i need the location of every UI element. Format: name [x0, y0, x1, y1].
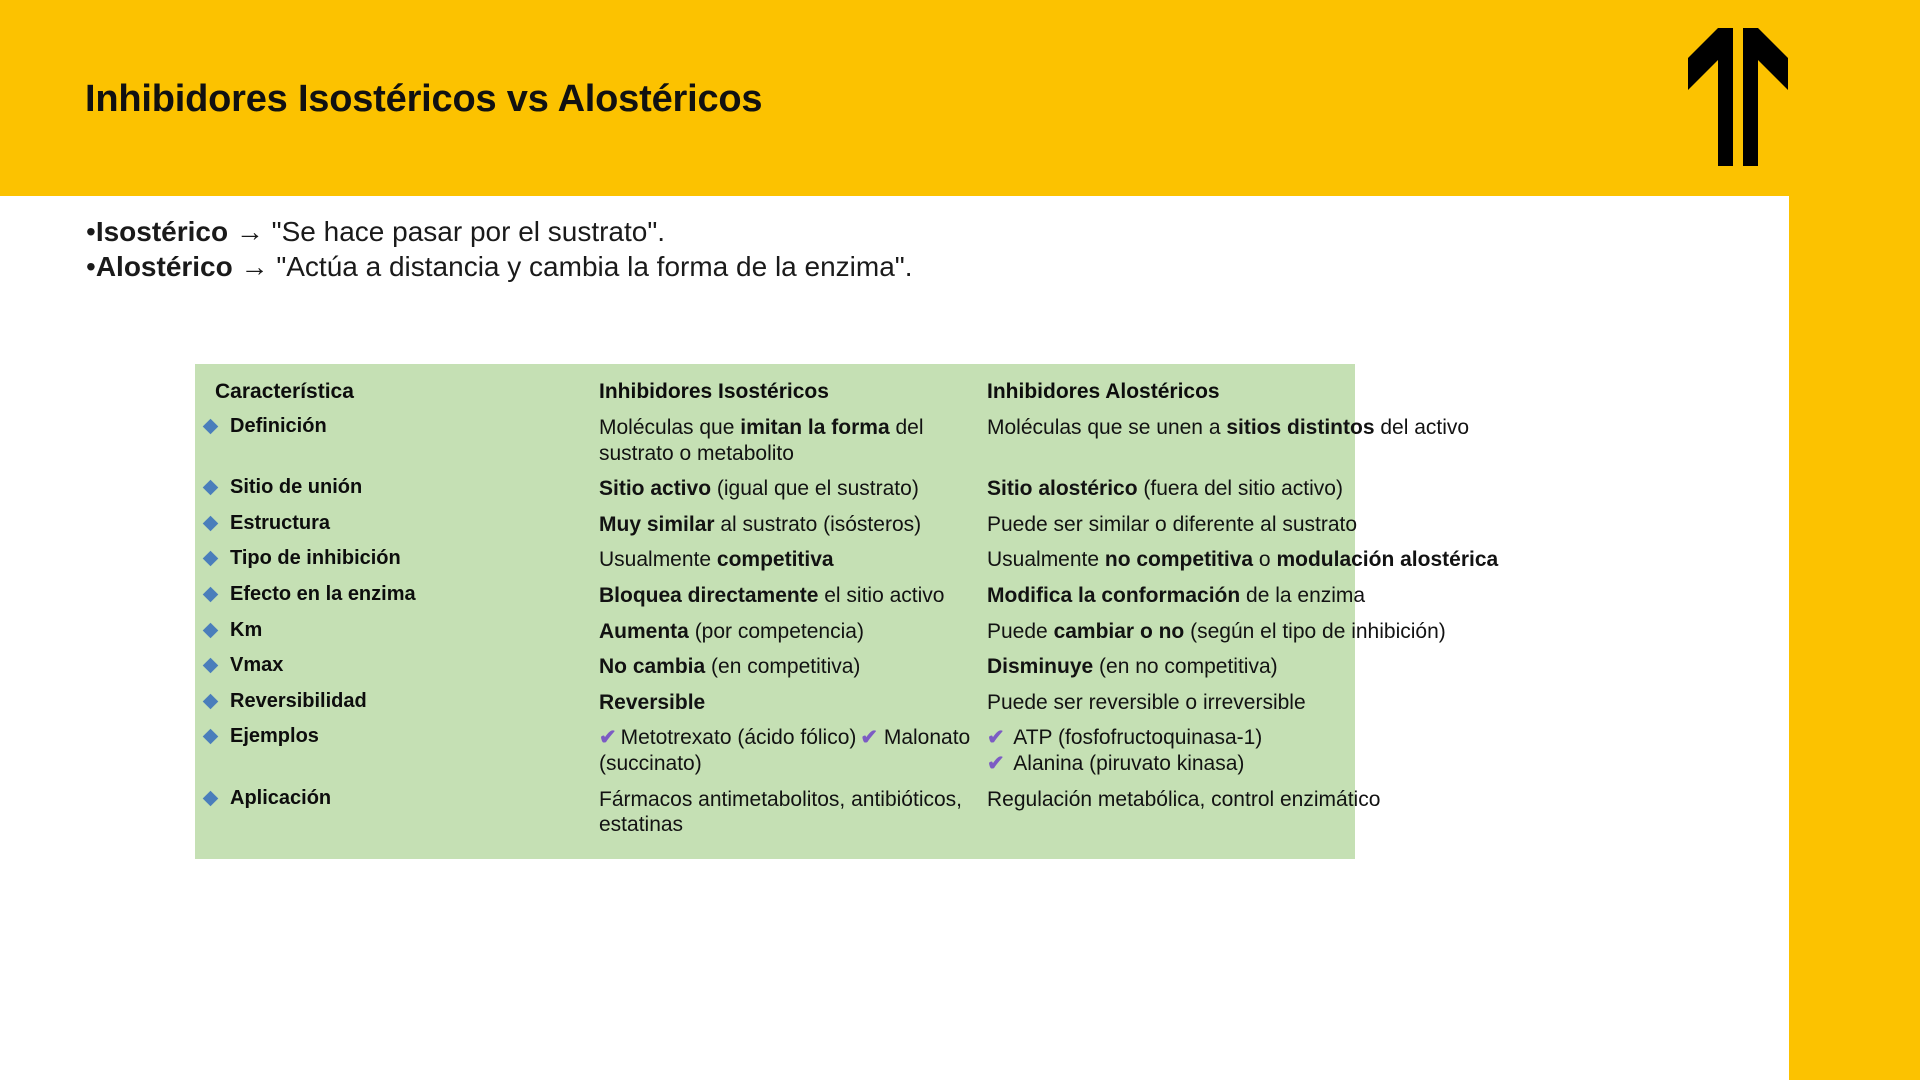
cell-text-part: (según el tipo de inhibición) [1184, 620, 1446, 643]
table-body: DefiniciónMoléculas que imitan la forma … [195, 410, 1355, 843]
table-header-row: Característica Inhibidores Isostéricos I… [195, 378, 1355, 410]
check-icon: ✔ [987, 725, 1005, 751]
diamond-bullet-icon [203, 551, 219, 567]
allosteric-cell: Puede cambiar o no (según el tipo de inh… [987, 614, 1355, 650]
example-item: Metotrexato (ácido fólico) [621, 726, 857, 749]
feature-cell: Aplicación [195, 782, 595, 815]
cell-text-emphasis: Sitio alostérico [987, 477, 1138, 500]
allosteric-cell: Usualmente no competitiva o modulación a… [987, 542, 1355, 578]
diamond-bullet-icon [203, 622, 219, 638]
cell-text-emphasis: Reversible [599, 691, 705, 714]
allosteric-cell: Sitio alostérico (fuera del sitio activo… [987, 471, 1355, 507]
cell-text-part: o [1253, 548, 1276, 571]
intro-arrow: → [241, 251, 269, 282]
cell-text: Usualmente no competitiva o modulación a… [987, 547, 1355, 573]
bullet-dot: • [86, 251, 96, 282]
cell-text: No cambia (en competitiva) [599, 654, 973, 680]
isosteric-cell: Moléculas que imitan la forma del sustra… [595, 410, 987, 471]
example-line: ✔ ATP (fosfofructoquinasa-1) [987, 725, 1355, 751]
cell-text-part: Puede ser reversible o irreversible [987, 691, 1306, 714]
cell-text-emphasis: imitan la forma [740, 416, 889, 439]
feature-cell: Efecto en la enzima [195, 578, 595, 611]
cell-text: Disminuye (en no competitiva) [987, 654, 1355, 680]
table-row: KmAumenta (por competencia)Puede cambiar… [195, 614, 1355, 650]
double-arrow-logo [1688, 28, 1788, 166]
cell-text-part: Usualmente [987, 548, 1105, 571]
allosteric-cell: Puede ser reversible o irreversible [987, 685, 1355, 721]
comparison-table: Característica Inhibidores Isostéricos I… [195, 364, 1355, 859]
cell-text: Modifica la conformación de la enzima [987, 583, 1355, 609]
feature-cell: Vmax [195, 649, 595, 682]
cell-text-part: al sustrato (isósteros) [715, 513, 922, 536]
feature-label: Reversibilidad [230, 690, 367, 713]
diamond-bullet-icon [203, 658, 219, 674]
header-isosteric: Inhibidores Isostéricos [595, 378, 987, 410]
intro-line-allosteric: •Alostérico → "Actúa a distancia y cambi… [86, 249, 1386, 284]
cell-text: Bloquea directamente el sitio activo [599, 583, 973, 609]
feature-label: Km [230, 619, 262, 642]
cell-text-part: de la enzima [1240, 584, 1365, 607]
cell-text: Muy similar al sustrato (isósteros) [599, 512, 973, 538]
isosteric-cell: Muy similar al sustrato (isósteros) [595, 507, 987, 543]
cell-text: ✔ ATP (fosfofructoquinasa-1)✔ Alanina (p… [987, 725, 1355, 776]
feature-cell: Estructura [195, 507, 595, 540]
cell-text-part: (por competencia) [689, 620, 864, 643]
cell-text-part: Moléculas que [599, 416, 740, 439]
isosteric-cell: Usualmente competitiva [595, 542, 987, 578]
diamond-bullet-icon [203, 694, 219, 710]
diamond-bullet-icon [203, 516, 219, 532]
diamond-bullet-icon [203, 419, 219, 435]
cell-text-emphasis: Bloquea directamente [599, 584, 818, 607]
isosteric-cell: Sitio activo (igual que el sustrato) [595, 471, 987, 507]
intro-text-isosteric: "Se hace pasar por el sustrato". [272, 216, 665, 247]
diamond-bullet-icon [203, 587, 219, 603]
cell-text: ✔Metotrexato (ácido fólico)✔ Malonato (s… [599, 725, 973, 776]
cell-text-emphasis: Muy similar [599, 513, 715, 536]
table-row: VmaxNo cambia (en competitiva)Disminuye … [195, 649, 1355, 685]
feature-label: Aplicación [230, 787, 331, 810]
cell-text: Sitio activo (igual que el sustrato) [599, 476, 973, 502]
cell-text-part: (en no competitiva) [1093, 655, 1277, 678]
cell-text-emphasis: Disminuye [987, 655, 1093, 678]
feature-cell: Sitio de unión [195, 471, 595, 504]
isosteric-cell: ✔Metotrexato (ácido fólico)✔ Malonato (s… [595, 720, 987, 781]
cell-text-part: Puede [987, 620, 1054, 643]
header-allosteric: Inhibidores Alostéricos [987, 378, 1355, 410]
cell-text-emphasis: Sitio activo [599, 477, 711, 500]
cell-text-emphasis: sitios distintos [1226, 416, 1374, 439]
example-line: ✔ Alanina (piruvato kinasa) [987, 751, 1355, 777]
cell-text-part: (igual que el sustrato) [711, 477, 919, 500]
allosteric-cell: Regulación metabólica, control enzimátic… [987, 782, 1355, 818]
cell-text: Aumenta (por competencia) [599, 619, 973, 645]
isosteric-cell: No cambia (en competitiva) [595, 649, 987, 685]
example-item: ATP (fosfofructoquinasa-1) [1009, 726, 1263, 749]
table-row: DefiniciónMoléculas que imitan la forma … [195, 410, 1355, 471]
cell-text-part: Moléculas que se unen a [987, 416, 1226, 439]
feature-label: Sitio de unión [230, 476, 362, 499]
header-feature: Característica [195, 378, 595, 410]
feature-cell: Tipo de inhibición [195, 542, 595, 575]
allosteric-cell: Disminuye (en no competitiva) [987, 649, 1355, 685]
table-row-application: AplicaciónFármacos antimetabolitos, anti… [195, 782, 1355, 843]
cell-text: Moléculas que se unen a sitios distintos… [987, 415, 1355, 441]
intro-term-allosteric: Alostérico [96, 251, 233, 282]
check-icon: ✔ [599, 725, 617, 751]
intro-bullets: •Isostérico → "Se hace pasar por el sust… [86, 214, 1386, 285]
cell-text: Puede cambiar o no (según el tipo de inh… [987, 619, 1355, 645]
right-yellow-strip [1789, 0, 1920, 1080]
feature-cell: Km [195, 614, 595, 647]
isosteric-cell: Aumenta (por competencia) [595, 614, 987, 650]
intro-text-allosteric: "Actúa a distancia y cambia la forma de … [276, 251, 912, 282]
cell-text: Sitio alostérico (fuera del sitio activo… [987, 476, 1355, 502]
cell-text-part: Puede ser similar o diferente al sustrat… [987, 513, 1357, 536]
cell-text-part: (fuera del sitio activo) [1138, 477, 1343, 500]
cell-text: Puede ser similar o diferente al sustrat… [987, 512, 1355, 538]
isosteric-cell: Bloquea directamente el sitio activo [595, 578, 987, 614]
cell-text-emphasis: cambiar o no [1054, 620, 1185, 643]
cell-text-part: (en competitiva) [705, 655, 860, 678]
allosteric-cell: ✔ ATP (fosfofructoquinasa-1)✔ Alanina (p… [987, 720, 1355, 781]
cell-text: Puede ser reversible o irreversible [987, 690, 1355, 716]
slide-root: Inhibidores Isostéricos vs Alostéricos •… [0, 0, 1920, 1080]
feature-label: Tipo de inhibición [230, 547, 401, 570]
cell-text-emphasis: no competitiva [1105, 548, 1253, 571]
cell-text-emphasis: No cambia [599, 655, 705, 678]
feature-label: Ejemplos [230, 725, 319, 748]
allosteric-cell: Modifica la conformación de la enzima [987, 578, 1355, 614]
table-row: ReversibilidadReversiblePuede ser revers… [195, 685, 1355, 721]
table-row-examples: Ejemplos✔Metotrexato (ácido fólico)✔ Mal… [195, 720, 1355, 781]
feature-label: Vmax [230, 654, 283, 677]
diamond-bullet-icon [203, 790, 219, 806]
cell-text: Reversible [599, 690, 973, 716]
cell-text-emphasis: Aumenta [599, 620, 689, 643]
feature-label: Definición [230, 415, 327, 438]
table-row: Efecto en la enzimaBloquea directamente … [195, 578, 1355, 614]
isosteric-cell: Fármacos antimetabolitos, antibióticos, … [595, 782, 987, 843]
cell-text: Regulación metabólica, control enzimátic… [987, 787, 1355, 813]
isosteric-cell: Reversible [595, 685, 987, 721]
cell-text-part: el sitio activo [818, 584, 944, 607]
cell-text-emphasis: competitiva [717, 548, 834, 571]
intro-arrow: → [236, 216, 264, 247]
intro-term-isosteric: Isostérico [96, 216, 228, 247]
cell-text-emphasis: modulación alostérica [1276, 548, 1498, 571]
check-icon: ✔ [987, 751, 1005, 777]
cell-text-emphasis: Modifica la conformación [987, 584, 1240, 607]
intro-line-isosteric: •Isostérico → "Se hace pasar por el sust… [86, 214, 1386, 249]
feature-label: Estructura [230, 512, 330, 535]
table-row: Sitio de uniónSitio activo (igual que el… [195, 471, 1355, 507]
allosteric-cell: Moléculas que se unen a sitios distintos… [987, 410, 1355, 446]
table-row: EstructuraMuy similar al sustrato (isóst… [195, 507, 1355, 543]
table-row: Tipo de inhibiciónUsualmente competitiva… [195, 542, 1355, 578]
check-icon: ✔ [860, 725, 878, 751]
feature-cell: Definición [195, 410, 595, 443]
cell-text: Fármacos antimetabolitos, antibióticos, … [599, 787, 973, 838]
feature-cell: Ejemplos [195, 720, 595, 753]
bullet-dot: • [86, 216, 96, 247]
diamond-bullet-icon [203, 729, 219, 745]
cell-text-part: Usualmente [599, 548, 717, 571]
feature-cell: Reversibilidad [195, 685, 595, 718]
cell-text: Usualmente competitiva [599, 547, 973, 573]
diamond-bullet-icon [203, 480, 219, 496]
cell-text-part: del activo [1375, 416, 1470, 439]
allosteric-cell: Puede ser similar o diferente al sustrat… [987, 507, 1355, 543]
example-item: Alanina (piruvato kinasa) [1009, 752, 1245, 775]
page-title: Inhibidores Isostéricos vs Alostéricos [85, 78, 762, 121]
feature-label: Efecto en la enzima [230, 583, 416, 606]
cell-text: Moléculas que imitan la forma del sustra… [599, 415, 973, 466]
